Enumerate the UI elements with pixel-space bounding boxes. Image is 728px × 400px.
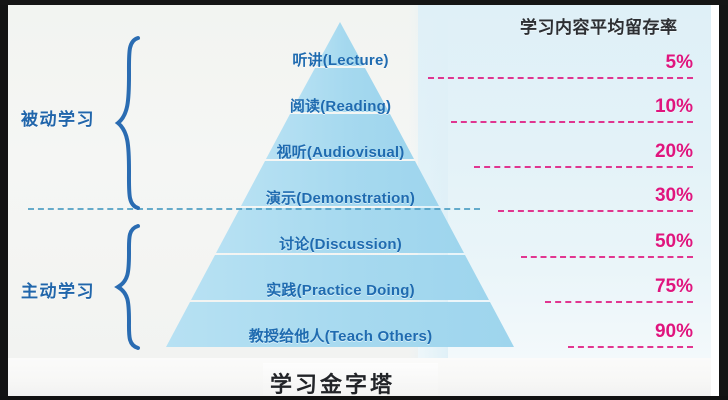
retention-leader-line-6 [545,301,693,303]
retention-column-header: 学习内容平均留存率 [520,13,678,38]
inner-right-margin [711,5,719,396]
passive-learning-label: 被动学习 [21,105,95,130]
tier-label-5: 讨论(Discussion) [198,233,483,254]
tier-label-2: 阅读(Reading) [208,95,473,116]
frame-border-bottom [0,396,728,400]
passive-learning-brace [112,35,146,211]
frame-border-right [719,0,728,400]
retention-value-5: 50% [608,231,693,253]
tier-label-4: 演示(Demonstration) [188,187,493,208]
retention-leader-line-3 [474,166,693,168]
retention-value-1: 5% [608,52,693,74]
frame-border-left [0,0,8,400]
retention-leader-line-1 [428,77,693,79]
diagram-canvas: 听讲(Lecture) 阅读(Reading) 视听(Audiovisual) … [8,5,719,396]
retention-value-4: 30% [608,185,693,207]
tier-label-1: 听讲(Lecture) [208,49,473,70]
frame-border-top [0,0,728,5]
tier-label-3: 视听(Audiovisual) [198,141,483,162]
tier-label-6: 实践(Practice Doing) [188,279,493,300]
tier-label-7: 教授给他人(Teach Others) [178,325,503,346]
retention-leader-line-2 [451,121,693,123]
active-learning-label: 主动学习 [21,277,95,302]
retention-leader-line-4 [498,210,693,212]
retention-leader-line-5 [521,256,693,258]
passive-active-divider [28,208,480,210]
active-learning-brace [112,223,146,351]
learning-pyramid-image: 听讲(Lecture) 阅读(Reading) 视听(Audiovisual) … [0,0,728,400]
diagram-title: 学习金字塔 [270,367,395,396]
retention-value-7: 90% [608,321,693,343]
retention-leader-line-7 [568,346,693,348]
retention-value-2: 10% [608,96,693,118]
retention-value-6: 75% [608,276,693,298]
retention-value-3: 20% [608,141,693,163]
